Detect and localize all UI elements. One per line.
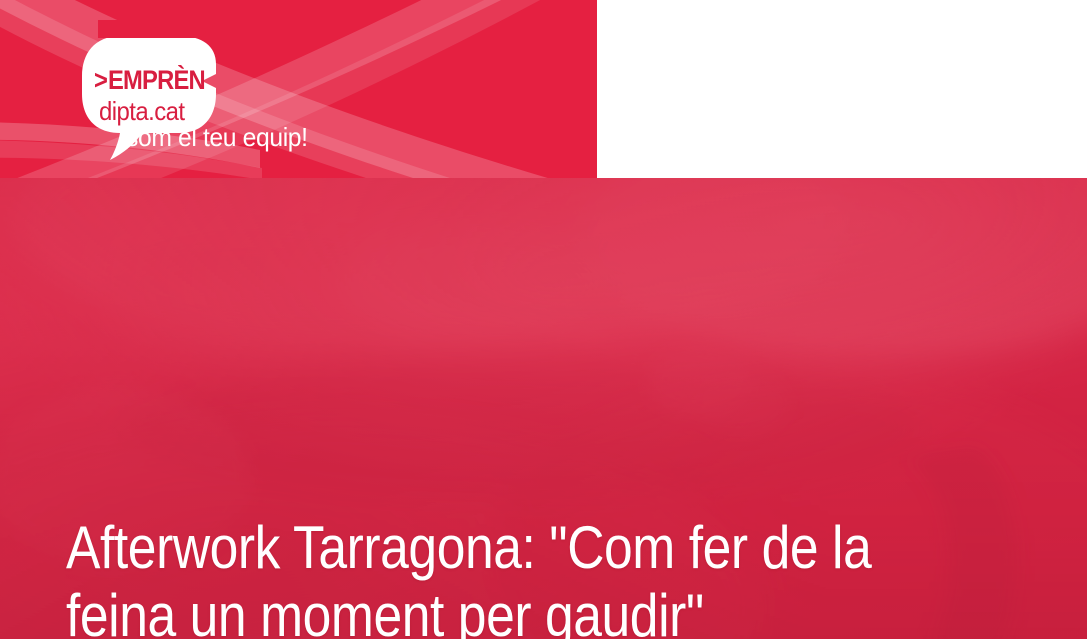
page-root: 2020 >EMPRÈN dipta.cat som el teu equip!	[0, 0, 1087, 639]
logo-brand-text: EMPRÈN	[108, 65, 205, 95]
logo-tagline: som el teu equip!	[126, 124, 308, 150]
brand-banner: 2020 >EMPRÈN dipta.cat som el teu equip!	[0, 0, 597, 178]
page-title: Afterwork Tarragona: "Com fer de la fein…	[66, 514, 935, 639]
hero-section: Afterwork Tarragona: "Com fer de la fein…	[0, 178, 1087, 639]
logo-brand: >EMPRÈN	[94, 67, 205, 94]
logo-chevron-icon: >	[94, 67, 107, 94]
logo-domain: dipta.cat	[99, 98, 184, 124]
logo-year: 2020	[107, 45, 145, 64]
